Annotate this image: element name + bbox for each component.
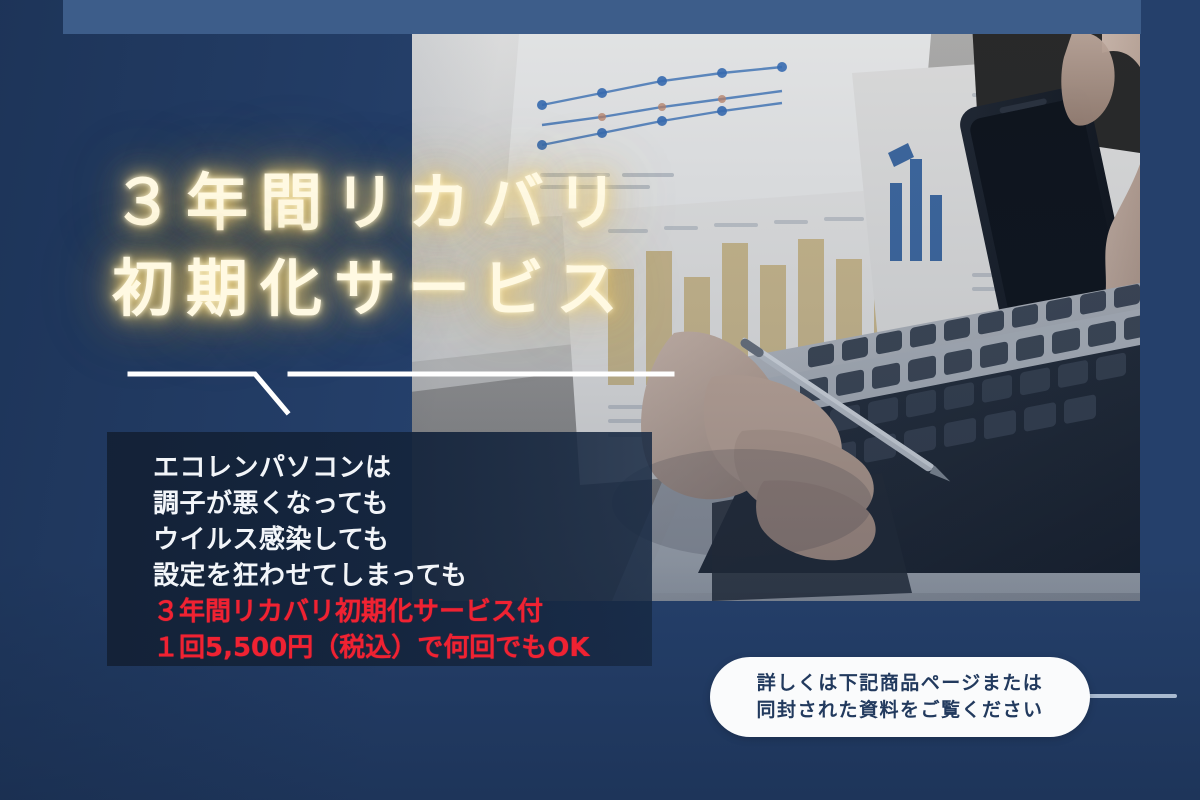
pill-callout-tail-line [1075, 694, 1177, 698]
pill-callout-line-2: 同封された資料をご覧ください [756, 697, 1043, 724]
info-line-5-highlight: ３年間リカバリ初期化サービス付 [153, 594, 652, 630]
headline-line-2: 初期化サービス [112, 246, 872, 332]
info-line-6-price: １回5,500円（税込）で何回でもOK [153, 630, 652, 666]
info-line-1: エコレンパソコンは [153, 450, 652, 486]
rule-line-bracket [130, 374, 287, 412]
promo-banner: ３年間リカバリ 初期化サービス エコレンパソコンは 調子が悪くなっても ウイルス… [0, 0, 1200, 800]
headline-line-1: ３年間リカバリ [112, 160, 872, 246]
page-title: ３年間リカバリ 初期化サービス [112, 160, 872, 332]
info-line-4: 設定を狂わせてしまっても [153, 558, 652, 594]
top-accent-band [63, 0, 1141, 34]
pill-callout[interactable]: 詳しくは下記商品ページまたは 同封された資料をご覧ください [710, 657, 1090, 737]
pill-callout-line-1: 詳しくは下記商品ページまたは [757, 670, 1044, 697]
info-panel: エコレンパソコンは 調子が悪くなっても ウイルス感染しても 設定を狂わせてしまっ… [107, 432, 652, 666]
info-line-3: ウイルス感染しても [153, 522, 652, 558]
info-line-2: 調子が悪くなっても [153, 486, 652, 522]
